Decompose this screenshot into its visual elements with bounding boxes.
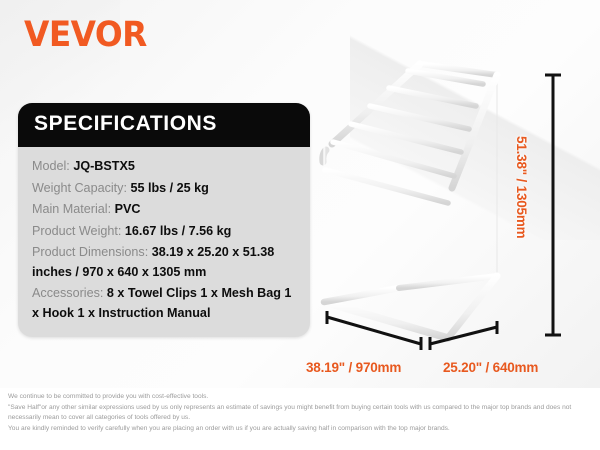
spec-label-model: Model: xyxy=(32,159,70,173)
disclaimer-line-2: "Save Half"or any other similar expressi… xyxy=(8,403,594,424)
spec-row-product-dimensions: Product Dimensions: 38.19 x 25.20 x 51.3… xyxy=(32,243,298,282)
spec-label-product-weight: Product Weight: xyxy=(32,224,121,238)
specifications-title: SPECIFICATIONS xyxy=(18,103,310,147)
specifications-card: SPECIFICATIONS Model: JQ-BSTX5 Weight Ca… xyxy=(18,103,310,337)
spec-label-weight-capacity: Weight Capacity: xyxy=(32,181,127,195)
vevor-logo: VEVOR xyxy=(24,18,147,53)
specifications-list: Model: JQ-BSTX5 Weight Capacity: 55 lbs … xyxy=(18,147,310,337)
spec-row-weight-capacity: Weight Capacity: 55 lbs / 25 kg xyxy=(32,179,298,199)
towel-rack-drawing xyxy=(300,40,550,360)
spec-label-accessories: Accessories: xyxy=(32,286,103,300)
spec-value-weight-capacity: 55 lbs / 25 kg xyxy=(130,181,208,195)
spec-label-main-material: Main Material: xyxy=(32,202,111,216)
dimension-label-width: 38.19" / 970mm xyxy=(306,360,401,375)
spec-value-main-material: PVC xyxy=(115,202,141,216)
spec-row-accessories: Accessories: 8 x Towel Clips 1 x Mesh Ba… xyxy=(32,284,298,323)
spec-value-product-weight: 16.67 lbs / 7.56 kg xyxy=(125,224,231,238)
spec-row-product-weight: Product Weight: 16.67 lbs / 7.56 kg xyxy=(32,222,298,242)
disclaimer-line-3: You are kindly reminded to verify carefu… xyxy=(8,424,594,435)
spec-label-product-dimensions: Product Dimensions: xyxy=(32,245,148,259)
product-illustration xyxy=(300,40,550,360)
dimension-label-depth: 25.20" / 640mm xyxy=(443,360,538,375)
disclaimer-line-1: We continue to be committed to provide y… xyxy=(8,392,594,403)
spec-row-model: Model: JQ-BSTX5 xyxy=(32,157,298,177)
disclaimer-text: We continue to be committed to provide y… xyxy=(8,392,594,434)
spec-row-main-material: Main Material: PVC xyxy=(32,200,298,220)
product-spec-page: VEVOR SPECIFICATIONS Model: JQ-BSTX5 Wei… xyxy=(0,0,600,450)
spec-value-model: JQ-BSTX5 xyxy=(73,159,135,173)
dimension-label-height: 51.38" / 1305mm xyxy=(514,136,529,238)
